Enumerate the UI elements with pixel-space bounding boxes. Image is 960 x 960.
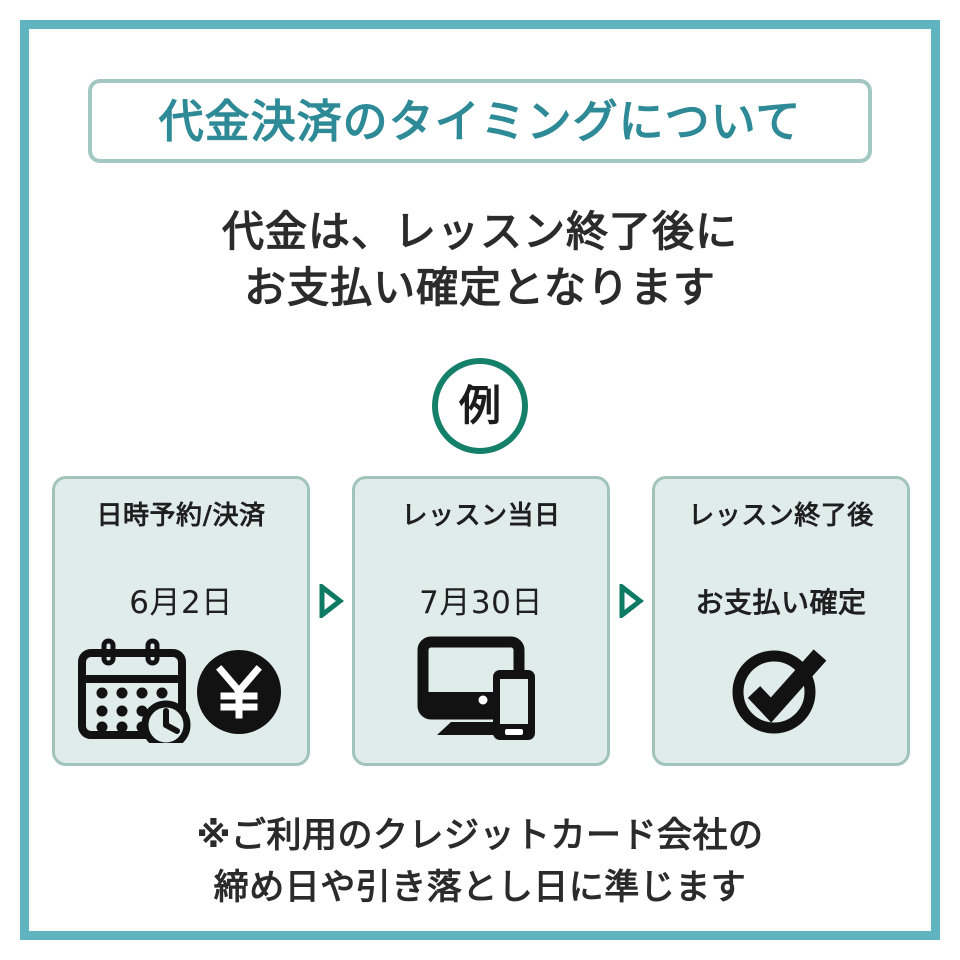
example-badge: 例 [432, 358, 528, 454]
step-card-icon-group [655, 625, 907, 753]
calendar-clock-icon [82, 641, 187, 743]
footnote-line-1: ※ご利用のクレジットカード会社の [0, 810, 960, 862]
steps-row: 日時予約/決済 6月2日 [52, 476, 908, 766]
yen-coin-icon [197, 650, 281, 734]
headline-line-1: 代金は、レッスン終了後に [0, 204, 960, 260]
step-card-value: お支払い確定 [655, 583, 907, 623]
payment-timing-infographic: 代金決済のタイミングについて 代金は、レッスン終了後に お支払い確定となります … [0, 0, 960, 960]
step-card-icon-group [355, 625, 607, 753]
arrow-right-icon-2 [618, 584, 644, 618]
arrow-right-icon-1 [318, 584, 344, 618]
check-circle-icon [726, 637, 836, 741]
title-box: 代金決済のタイミングについて [88, 79, 872, 163]
step-card-value: 7月30日 [355, 583, 607, 623]
step-card-lesson-day: レッスン当日 7月30日 [352, 476, 610, 766]
monitor-smartphone-icon [417, 634, 545, 744]
headline: 代金は、レッスン終了後に お支払い確定となります [0, 204, 960, 316]
step-card-payment-confirmed: レッスン終了後 お支払い確定 [652, 476, 910, 766]
headline-line-2: お支払い確定となります [0, 260, 960, 316]
example-badge-label: 例 [459, 385, 501, 427]
footnote-line-2: 締め日や引き落とし日に準じます [0, 862, 960, 914]
step-card-title: レッスン終了後 [655, 499, 907, 533]
step-card-title: 日時予約/決済 [55, 499, 307, 533]
page-title: 代金決済のタイミングについて [159, 99, 802, 144]
step-card-title: レッスン当日 [355, 499, 607, 533]
step-card-icon-group [55, 625, 307, 753]
footnote: ※ご利用のクレジットカード会社の 締め日や引き落とし日に準じます [0, 810, 960, 914]
step-card-value: 6月2日 [55, 583, 307, 623]
step-card-reservation: 日時予約/決済 6月2日 [52, 476, 310, 766]
calendar-clock-yen-icons [76, 635, 286, 743]
